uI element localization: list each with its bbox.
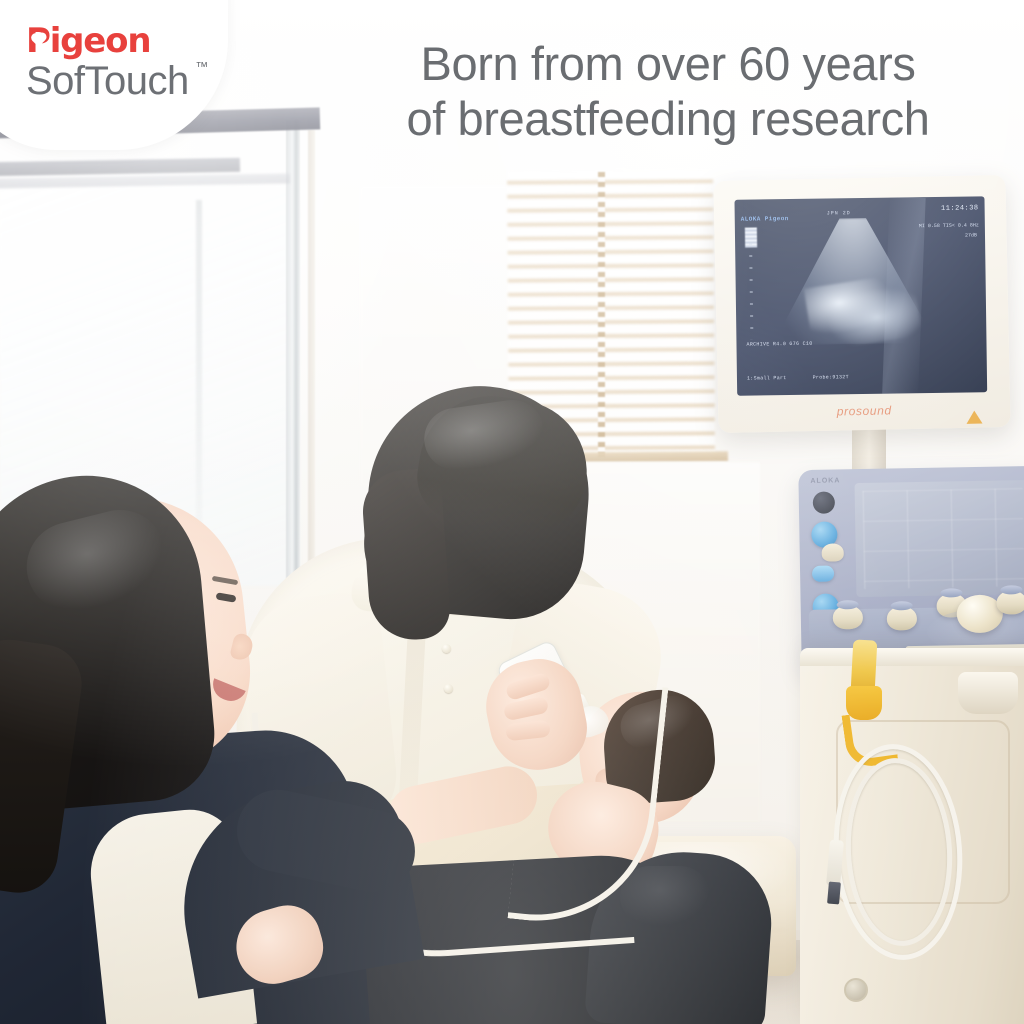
screen-glare [882,197,926,396]
spare-probe-tip [827,882,841,905]
touchscreen-menu-grid [863,488,1024,589]
warning-triangle-icon [966,411,982,424]
trademark-symbol: ™ [195,60,208,73]
ultrasound-screen-brand: ALOKA Pigeon [741,215,789,223]
control-knob-2[interactable] [887,606,917,631]
power-button[interactable] [813,491,835,513]
advertisement-image: ALOKA Pigeon JPN 2D 11:24:38 MI 0.58 TIS… [0,0,1024,1024]
window-mullion [286,120,300,590]
brand-badge-content: Pigeon SofTouch ™ [26,24,189,102]
console-touchscreen[interactable] [855,480,1024,597]
photo-scene: ALOKA Pigeon JPN 2D 11:24:38 MI 0.58 TIS… [0,0,1024,1024]
blouse-button [444,684,453,693]
probe-port-housing [958,672,1018,714]
headline-line-1: Born from over 60 years [421,37,916,90]
ultrasound-screen-header-center: JPN 2D [827,210,851,216]
pigeon-logo: Pigeon [26,24,189,58]
glass-partition-edge [196,200,202,530]
softouch-text: SofTouch [26,59,189,103]
blinds-cord [598,172,605,460]
blouse-button [442,644,451,653]
ultrasound-gain-readout: 27dB [965,232,977,238]
ultrasound-monitor: ALOKA Pigeon JPN 2D 11:24:38 MI 0.58 TIS… [713,175,1010,433]
ultrasound-acoustic-output: MI 0.58 TIS< 0.4 8Hz [919,222,979,229]
knob-cap [1000,585,1022,594]
machine-top-lip [800,648,1024,666]
ultrasound-depth-ruler [749,244,753,340]
control-knob-1[interactable] [833,605,863,630]
knob-cap [891,601,913,610]
control-knob-4[interactable] [996,590,1024,615]
probe-connector-socket [844,978,868,1002]
knob-cap [837,600,859,609]
console-brand-label: ALOKA [810,477,840,485]
pigeon-logo-text: Pigeon [26,21,150,61]
headline: Born from over 60 years of breastfeeding… [330,36,1006,147]
mode-button[interactable] [812,565,834,581]
ultrasound-screen: ALOKA Pigeon JPN 2D 11:24:38 MI 0.58 TIS… [734,196,987,395]
softouch-wordmark: SofTouch ™ [26,60,189,102]
ultrasound-screen-timestamp: 11:24:38 [941,204,979,213]
gain-knob[interactable] [822,543,844,561]
probe-holder [851,639,878,692]
ultrasound-probe-label: Probe:9132T [813,374,849,381]
window-mullion-secondary [308,130,315,585]
headline-line-2: of breastfeeding research [330,91,1006,146]
ultrasound-depth-readout: ARCHIVE R4.0 G76 C10 [746,341,812,348]
ultrasound-preset-label: 1:Small Part [747,375,787,382]
ultrasound-console[interactable]: ALOKA [798,466,1024,670]
knob-cap [940,588,962,597]
caution-label-icon [842,954,866,968]
ultrasound-footer: 1:Small PartProbe:9132T [747,374,849,381]
mother-knee-highlight [620,866,710,926]
